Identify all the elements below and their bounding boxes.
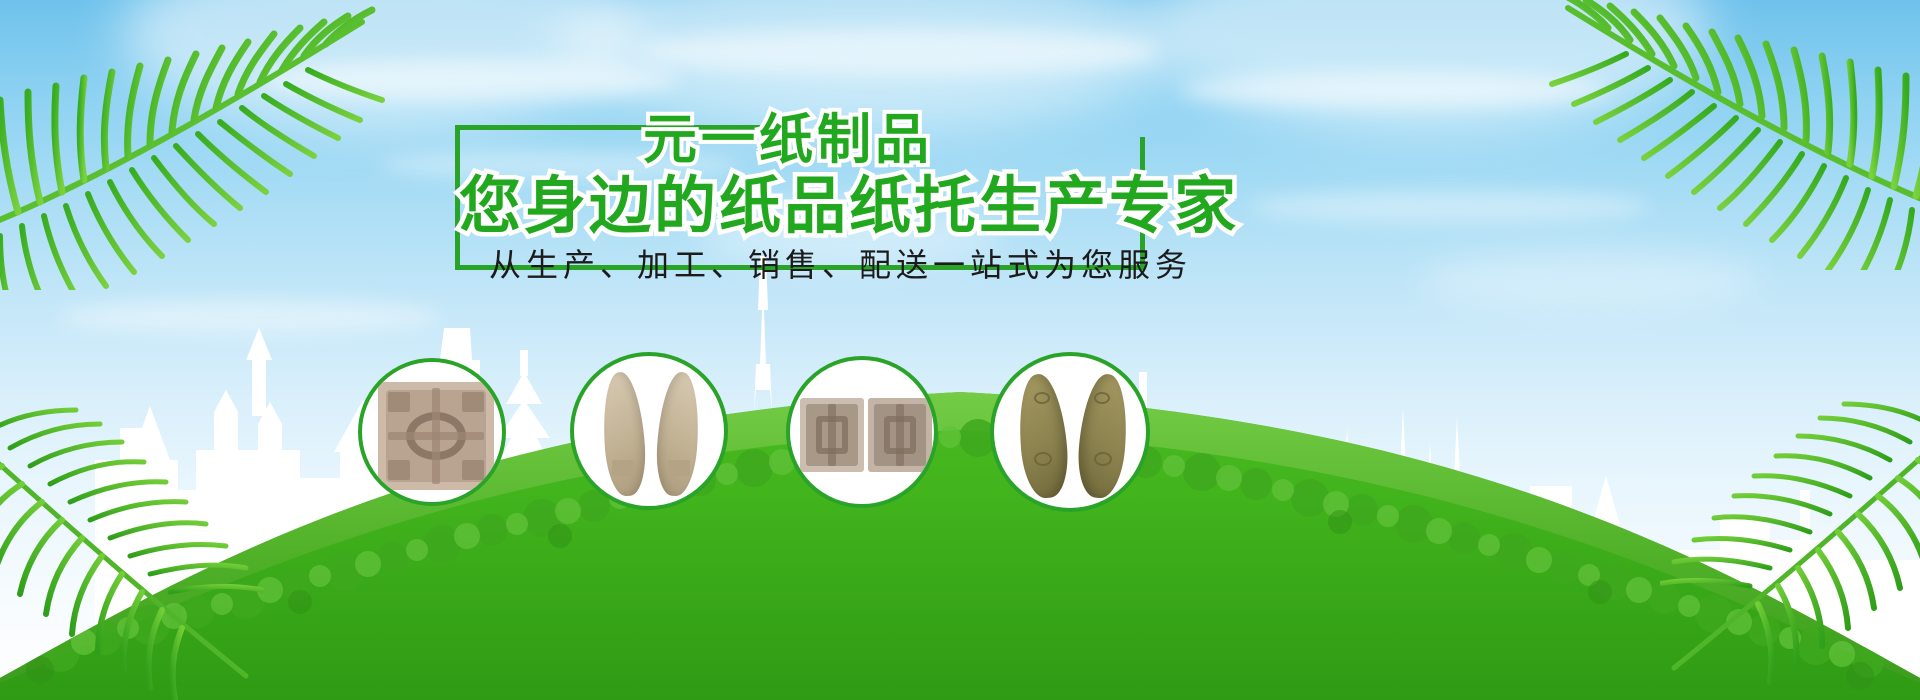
palm-frond-icon	[0, 400, 270, 700]
product-circle-4[interactable]	[990, 352, 1150, 512]
product-circle-2[interactable]	[570, 352, 728, 510]
product-circle-3[interactable]	[786, 356, 938, 508]
product-image-paper-pulp-shoe-insert-light	[574, 356, 724, 506]
product-image-paper-pulp-tray-square	[362, 362, 502, 502]
promo-banner: 元一纸制品 您身边的纸品纸托生产专家 从生产、加工、销售、配送一站式为您服务	[0, 0, 1920, 700]
product-image-paper-pulp-packaging-pair	[790, 360, 934, 504]
green-hill	[0, 280, 1920, 700]
palm-frond-icon	[1540, 0, 1920, 270]
product-circle-1[interactable]	[358, 358, 506, 506]
product-image-paper-pulp-shoe-tree-olive	[994, 356, 1146, 508]
palm-frond-icon	[0, 0, 400, 290]
palm-frond-icon	[1660, 390, 1920, 700]
headline-block: 元一纸制品 您身边的纸品纸托生产专家	[455, 95, 1145, 245]
headline-line-2: 您身边的纸品纸托生产专家	[459, 155, 1239, 245]
banner-subtitle: 从生产、加工、销售、配送一站式为您服务	[489, 240, 1192, 286]
